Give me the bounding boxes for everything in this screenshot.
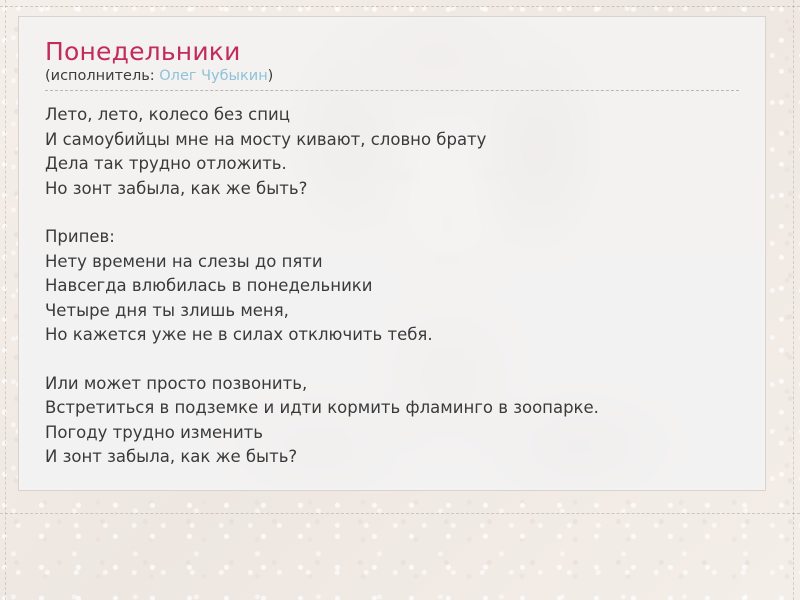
- lyrics-stanza-chorus: Припев:Нету времени на слезы до пятиНавс…: [45, 225, 739, 348]
- lyrics-line: Четыре дня ты злишь меня,: [45, 299, 739, 324]
- lyrics-line: Навсегда влюбилась в понедельники: [45, 274, 739, 299]
- dashed-rule-top: [0, 6, 800, 7]
- song-header: Понедельники (исполнитель: Олег Чубыкин): [45, 37, 739, 91]
- lyrics-stanza-verse-1: Лето, лето, колесо без спицИ самоубийцы …: [45, 103, 739, 201]
- lyrics-card: Понедельники (исполнитель: Олег Чубыкин)…: [18, 16, 766, 491]
- dashed-rule-right: [793, 0, 794, 600]
- lyrics-line: Но зонт забыла, как же быть?: [45, 177, 739, 202]
- dashed-rule-left: [5, 0, 6, 600]
- lyrics-line: Или может просто позвонить,: [45, 372, 739, 397]
- card-content: Понедельники (исполнитель: Олег Чубыкин)…: [19, 17, 765, 470]
- lyrics-line: И зонт забыла, как же быть?: [45, 445, 739, 470]
- page-title: Понедельники: [45, 37, 739, 66]
- lyrics-line: Но кажется уже не в силах отключить тебя…: [45, 323, 739, 348]
- artist-prefix-label: (исполнитель:: [45, 68, 159, 84]
- lyrics-line: Припев:: [45, 225, 739, 250]
- lyrics-body: Лето, лето, колесо без спицИ самоубийцы …: [45, 103, 739, 470]
- lyrics-line: Лето, лето, колесо без спиц: [45, 103, 739, 128]
- lyrics-line: Нету времени на слезы до пяти: [45, 250, 739, 275]
- artist-line: (исполнитель: Олег Чубыкин): [45, 67, 739, 86]
- lyrics-line: Дела так трудно отложить.: [45, 152, 739, 177]
- dashed-rule-bottom: [0, 513, 800, 514]
- artist-suffix-label: ): [268, 68, 274, 84]
- lyrics-line: Встретиться в подземке и идти кормить фл…: [45, 396, 739, 421]
- lyrics-stanza-verse-2: Или может просто позвонить,Встретиться в…: [45, 372, 739, 470]
- artist-link[interactable]: Олег Чубыкин: [159, 68, 267, 84]
- lyrics-line: И самоубийцы мне на мосту кивают, словно…: [45, 128, 739, 153]
- lyrics-line: Погоду трудно изменить: [45, 421, 739, 446]
